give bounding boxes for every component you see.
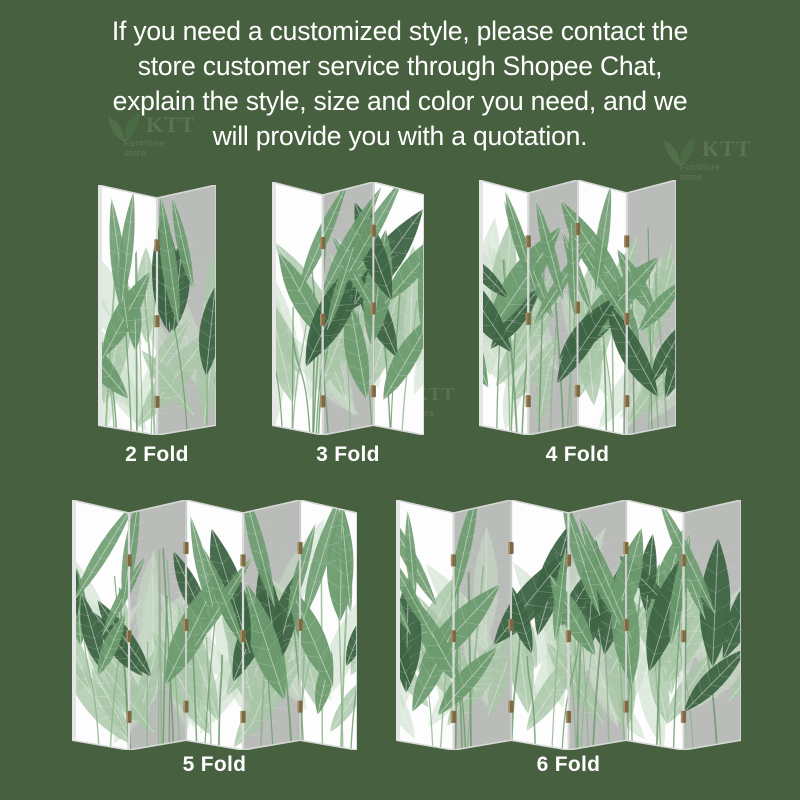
divider-5-fold: 5 Fold bbox=[72, 500, 357, 783]
header-text-block: If you need a customized style, please c… bbox=[0, 14, 800, 154]
divider-5-fold-illustration bbox=[72, 500, 357, 750]
divider-4-fold-illustration bbox=[479, 180, 676, 435]
divider-3-fold-illustration bbox=[272, 182, 424, 435]
watermark-tagline: Furniture store bbox=[680, 162, 721, 182]
divider-3-fold-caption: 3 Fold bbox=[272, 443, 424, 467]
divider-2-fold-caption: 2 Fold bbox=[98, 443, 216, 467]
divider-6-fold-caption: 6 Fold bbox=[396, 753, 741, 777]
header-line-1: If you need a customized style, please c… bbox=[0, 14, 800, 49]
divider-4-fold: 4 Fold bbox=[479, 180, 676, 473]
divider-2-fold-illustration bbox=[98, 185, 216, 435]
divider-6-fold: 6 Fold bbox=[396, 500, 741, 783]
infographic-canvas: KTT Furniture store KTT Furniture store … bbox=[0, 0, 800, 800]
header-line-3: explain the style, size and color you ne… bbox=[0, 84, 800, 119]
header-line-2: store customer service through Shopee Ch… bbox=[0, 49, 800, 84]
divider-5-fold-caption: 5 Fold bbox=[72, 753, 357, 777]
header-line-4: will provide you with a quotation. bbox=[0, 119, 800, 154]
divider-3-fold: 3 Fold bbox=[272, 182, 424, 473]
divider-4-fold-caption: 4 Fold bbox=[479, 443, 676, 467]
divider-6-fold-illustration bbox=[396, 500, 741, 750]
divider-2-fold: 2 Fold bbox=[98, 185, 216, 473]
